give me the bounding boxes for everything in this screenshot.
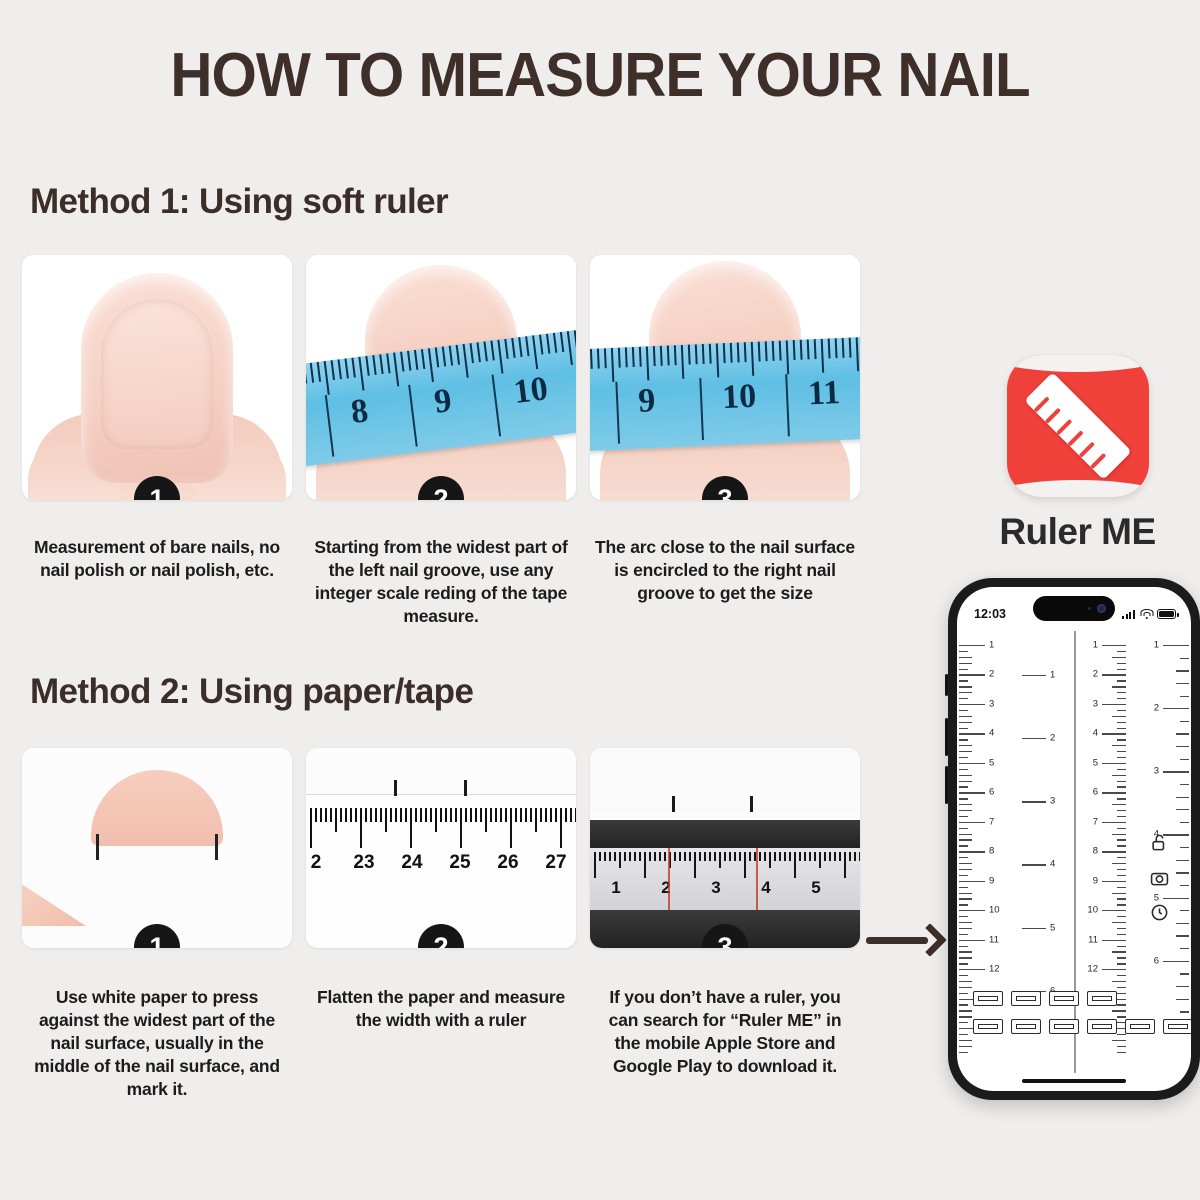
step-card-m2-3: 12345 3 If you don’t have a ruler, you c…	[590, 748, 860, 1101]
measure-box-icon[interactable]	[1125, 1019, 1155, 1034]
wifi-icon	[1140, 609, 1153, 619]
pencil-mark	[215, 834, 218, 860]
nail-plate	[101, 299, 213, 449]
step-image-m1-2: 8 9 10 2	[306, 255, 576, 500]
step-caption: The arc close to the nail surface is enc…	[590, 536, 860, 605]
step-caption: Use white paper to press against the wid…	[22, 986, 292, 1101]
measure-box-icon[interactable]	[1011, 1019, 1041, 1034]
nail-imprint	[91, 770, 223, 846]
phone-mockup: 12:03 1234567891011121314 12345678910111…	[948, 578, 1200, 1100]
clock-icon[interactable]	[1150, 903, 1169, 922]
tape-wrapped-photo: 9 10 11	[590, 255, 860, 500]
tape-major-line	[325, 395, 335, 457]
tape-number: 10	[721, 378, 757, 417]
step-caption: Measurement of bare nails, no nail polis…	[22, 536, 292, 582]
measure-box-icon[interactable]	[1087, 991, 1117, 1006]
step-card-m1-3: 9 10 11 3 The arc close to the nail surf…	[590, 255, 860, 628]
step-card-m1-2: 8 9 10 2 Starting from the widest part o…	[306, 255, 576, 628]
tape-major-line	[615, 382, 620, 444]
blue-tape-measure: 9 10 11	[590, 337, 860, 452]
app-promo: Ruler ME	[985, 355, 1170, 553]
home-indicator[interactable]	[1022, 1079, 1126, 1083]
sensor-dot-icon	[1088, 607, 1092, 611]
step-image-m2-1: 1	[22, 748, 292, 948]
phone-volume-up[interactable]	[945, 718, 948, 756]
status-time: 12:03	[974, 607, 1006, 621]
method-2-steps: 1 Use white paper to press against the w…	[22, 748, 862, 1101]
white-paper	[22, 748, 292, 948]
phone-volume-down[interactable]	[945, 766, 948, 804]
step-image-m1-3: 9 10 11 3	[590, 255, 860, 500]
finger-corner	[22, 874, 86, 926]
infographic-page: HOW TO MEASURE YOUR NAIL Method 1: Using…	[0, 0, 1200, 1200]
measure-box-icon[interactable]	[1049, 991, 1079, 1006]
pencil-mark	[394, 780, 397, 796]
tape-number: 9	[637, 382, 656, 421]
pencil-mark	[96, 834, 99, 860]
pencil-mark	[750, 796, 753, 812]
tape-major-line	[785, 374, 790, 436]
paper-top	[590, 748, 860, 814]
ruler-numbers: 22324252627	[306, 852, 576, 878]
unlock-icon[interactable]	[1150, 833, 1169, 852]
measurement-widget-row	[973, 991, 1191, 1006]
pencil-mark	[672, 796, 675, 812]
measure-box-icon[interactable]	[1087, 1019, 1117, 1034]
cellular-signal-icon	[1122, 610, 1136, 619]
method-2-heading: Method 2: Using paper/tape	[30, 672, 473, 712]
status-indicators	[1122, 609, 1176, 619]
step-image-m2-2: 22324252627 2	[306, 748, 576, 948]
camera-icon[interactable]	[1150, 868, 1169, 887]
front-camera-icon	[1097, 604, 1106, 613]
white-paper: 22324252627	[306, 748, 576, 948]
method-1-heading: Method 1: Using soft ruler	[30, 182, 448, 222]
app-name-label: Ruler ME	[985, 511, 1170, 553]
measurement-widget-row	[973, 1019, 1191, 1034]
step-image-m2-3: 12345 3	[590, 748, 860, 948]
tape-major-line	[492, 375, 502, 437]
step-caption: Flatten the paper and measure the width …	[306, 986, 576, 1032]
tape-number: 10	[512, 370, 550, 412]
app-tool-buttons	[1150, 833, 1169, 922]
measure-box-icon[interactable]	[973, 1019, 1003, 1034]
tape-number: 9	[432, 382, 454, 422]
tape-number: 11	[807, 374, 841, 413]
step-card-m1-1: 1 Measurement of bare nails, no nail pol…	[22, 255, 292, 628]
dynamic-island	[1033, 596, 1115, 621]
step-image-m1-1: 1	[22, 255, 292, 500]
step-caption: If you don’t have a ruler, you can searc…	[590, 986, 860, 1078]
arrow-head	[913, 923, 947, 957]
step-card-m2-1: 1 Use white paper to press against the w…	[22, 748, 292, 1101]
ruler-glyph	[1024, 372, 1131, 479]
tape-measure-photo: 8 9 10	[306, 255, 576, 500]
tape-major-line	[699, 378, 704, 440]
measure-box-icon[interactable]	[973, 991, 1003, 1006]
ruler-ticks	[306, 808, 576, 848]
measure-line	[756, 848, 758, 910]
phone-screen: 12:03 1234567891011121314 12345678910111…	[957, 587, 1191, 1091]
tape-number: 8	[349, 392, 371, 432]
bare-nail-photo	[22, 255, 292, 500]
battery-icon	[1157, 609, 1176, 619]
ruler-scale-center: 1234567891011121314123456	[1022, 631, 1126, 1073]
ruler-app-icon[interactable]	[1007, 355, 1149, 497]
method-1-steps: 1 Measurement of bare nails, no nail pol…	[22, 255, 862, 628]
ruler-edge	[306, 794, 576, 795]
white-paper: 12345	[590, 748, 860, 948]
measure-box-icon[interactable]	[1049, 1019, 1079, 1034]
step-card-m2-2: 22324252627 2 Flatten the paper and meas…	[306, 748, 576, 1101]
measure-box-icon[interactable]	[1163, 1019, 1191, 1034]
measure-line	[668, 848, 670, 910]
ruler-scale-left: 1234567891011121314	[959, 631, 1021, 1073]
phone-mute-switch[interactable]	[945, 674, 948, 696]
pencil-mark	[464, 780, 467, 796]
thumb-shape	[81, 273, 233, 483]
page-title: HOW TO MEASURE YOUR NAIL	[36, 40, 1164, 111]
ruler-ticks	[590, 852, 860, 878]
step-caption: Starting from the widest part of the lef…	[306, 536, 576, 628]
tape-major-line	[408, 385, 418, 447]
measure-box-icon[interactable]	[1011, 991, 1041, 1006]
